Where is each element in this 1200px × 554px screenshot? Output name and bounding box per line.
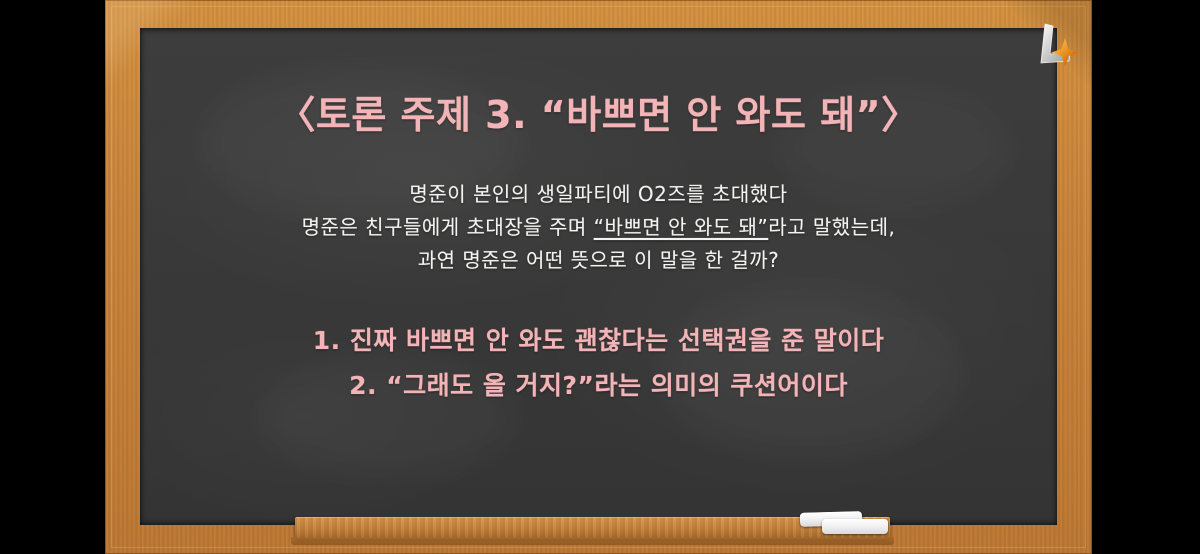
prompt-paragraph: 명준이 본인의 생일파티에 O2즈를 초대했다 명준은 친구들에게 초대장을 주… bbox=[140, 178, 1057, 277]
page-title: 〈토론 주제 3. “바쁘면 안 와도 돼”〉 bbox=[140, 84, 1057, 139]
blackboard-surface: 〈토론 주제 3. “바쁘면 안 와도 돼”〉 명준이 본인의 생일파티에 O2… bbox=[140, 28, 1057, 525]
chalk-stick-front bbox=[822, 519, 888, 534]
answer-choice-list: 1. 진짜 바쁘면 안 와도 괜찮다는 선택권을 준 말이다 2. “그래도 올… bbox=[140, 318, 1057, 408]
slide-stage: 〈토론 주제 3. “바쁘면 안 와도 돼”〉 명준이 본인의 생일파티에 O2… bbox=[0, 0, 1200, 554]
answer-choice-1-text: 진짜 바쁘면 안 와도 괜찮다는 선택권을 준 말이다 bbox=[350, 326, 884, 355]
logo-star-icon bbox=[1051, 38, 1079, 67]
letterbox-bar-left bbox=[0, 0, 105, 554]
answer-choice-1[interactable]: 1. 진짜 바쁘면 안 와도 괜찮다는 선택권을 준 말이다 bbox=[140, 318, 1057, 363]
answer-choice-2-number: 2. bbox=[349, 371, 377, 400]
answer-choice-2-text: “그래도 올 거지?”라는 의미의 쿠션어이다 bbox=[386, 371, 848, 400]
l-star-logo-icon bbox=[1029, 18, 1083, 70]
answer-choice-2[interactable]: 2. “그래도 올 거지?”라는 의미의 쿠션어이다 bbox=[140, 363, 1057, 408]
prompt-line-3: 과연 명준은 어떤 뜻으로 이 말을 한 걸까? bbox=[140, 244, 1057, 277]
prompt-line-2-after: 라고 말했는데, bbox=[768, 215, 895, 239]
prompt-quote-underlined: “바쁘면 안 와도 돼” bbox=[594, 215, 769, 239]
prompt-line-2: 명준은 친구들에게 초대장을 주며 “바쁘면 안 와도 돼”라고 말했는데, bbox=[140, 211, 1057, 244]
answer-choice-1-number: 1. bbox=[313, 326, 341, 355]
prompt-line-1: 명준이 본인의 생일파티에 O2즈를 초대했다 bbox=[140, 178, 1057, 211]
prompt-line-2-before: 명준은 친구들에게 초대장을 주며 bbox=[302, 215, 594, 239]
letterbox-bar-right bbox=[1092, 0, 1200, 554]
